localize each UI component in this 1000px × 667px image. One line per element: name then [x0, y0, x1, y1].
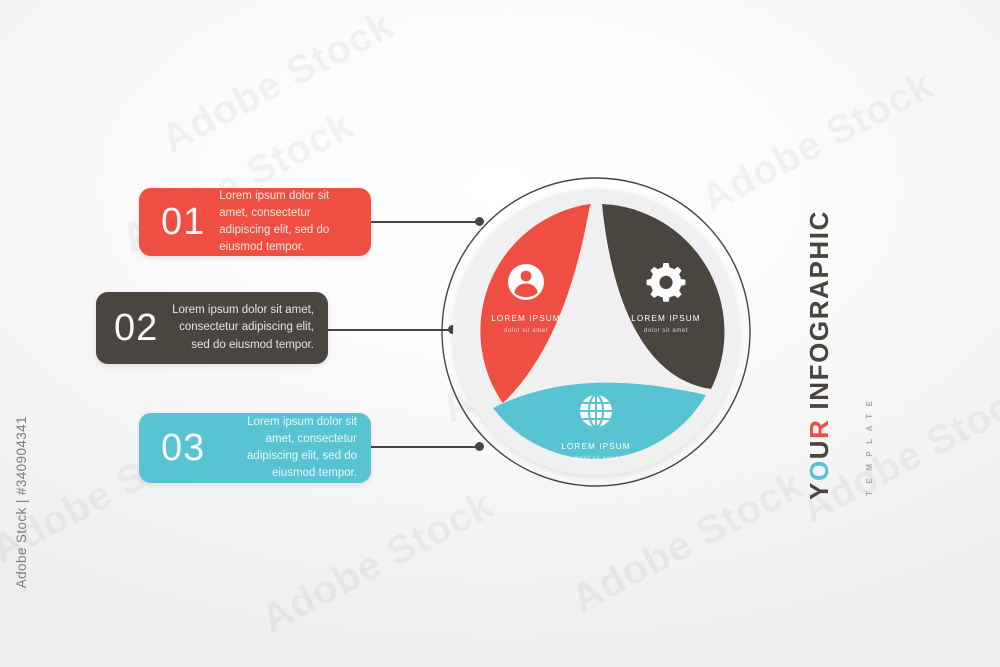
watermark-tile: Adobe Stock: [254, 483, 501, 643]
brand-subtitle: TEMPLATE: [865, 393, 874, 496]
segment-right-title: LOREM IPSUM: [631, 314, 700, 323]
circular-diagram: LOREM IPSUM dolor sit amet LOREM IPSUM d…: [441, 177, 751, 487]
gear-icon: [647, 263, 686, 302]
globe-icon: [580, 395, 612, 427]
step-number-03: 03: [161, 429, 205, 467]
step-number-02: 02: [114, 309, 158, 347]
brand-letter-r: R: [804, 418, 834, 438]
segment-right-subtitle: dolor sit amet: [644, 327, 688, 334]
segment-left-subtitle: dolor sit amet: [504, 327, 548, 334]
step-number-01: 01: [161, 203, 205, 241]
step-box-02[interactable]: 02 Lorem ipsum dolor sit amet, consectet…: [96, 292, 328, 364]
infographic-canvas: Adobe Stock Adobe Stock Adobe Stock Adob…: [0, 0, 1000, 667]
connector-line-02: [328, 329, 452, 331]
step-box-01[interactable]: 01 Lorem ipsum dolor sit amet, consectet…: [139, 188, 371, 256]
segment-bottom-subtitle: dolor sit amet: [574, 455, 618, 462]
brand-letter-y: Y: [804, 481, 834, 500]
brand-title: YOUR INFOGRAPHIC: [806, 210, 832, 500]
brand-letter-u: U: [804, 439, 834, 459]
stock-id-watermark: Adobe Stock | #340904341: [14, 416, 29, 588]
brand-letter-o: O: [804, 459, 834, 481]
step-description-01: Lorem ipsum dolor sit amet, consectetur …: [219, 188, 357, 256]
step-description-02: Lorem ipsum dolor sit amet, consectetur …: [170, 302, 314, 353]
step-box-03[interactable]: 03 Lorem ipsum dolor sit amet, consectet…: [139, 413, 371, 483]
brand-word-infographic: INFOGRAPHIC: [804, 210, 834, 418]
brand-wordmark: YOUR INFOGRAPHIC TEMPLATE: [826, 170, 902, 500]
watermark-tile: Adobe Stock: [154, 3, 401, 163]
segment-left-title: LOREM IPSUM: [491, 314, 560, 323]
segment-bottom-title: LOREM IPSUM: [561, 442, 630, 451]
step-description-03: Lorem ipsum dolor sit amet, consectetur …: [219, 414, 357, 482]
